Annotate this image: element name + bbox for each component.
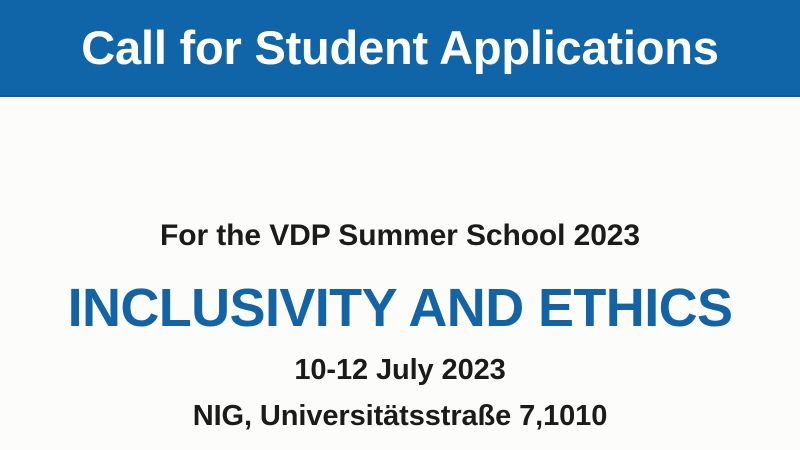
event-subtitle: For the VDP Summer School 2023 [0,221,800,251]
event-theme-heading: INCLUSIVITY AND ETHICS [0,281,800,335]
poster-announcement: Call for Student Applications For the VD… [0,0,800,450]
poster-body: For the VDP Summer School 2023 INCLUSIVI… [0,97,800,450]
event-date: 10-12 July 2023 [0,356,800,385]
banner-title: Call for Student Applications [81,24,718,71]
header-banner: Call for Student Applications [0,0,800,97]
event-venue-address: NIG, Universitätsstraße 7,1010 [0,402,800,431]
